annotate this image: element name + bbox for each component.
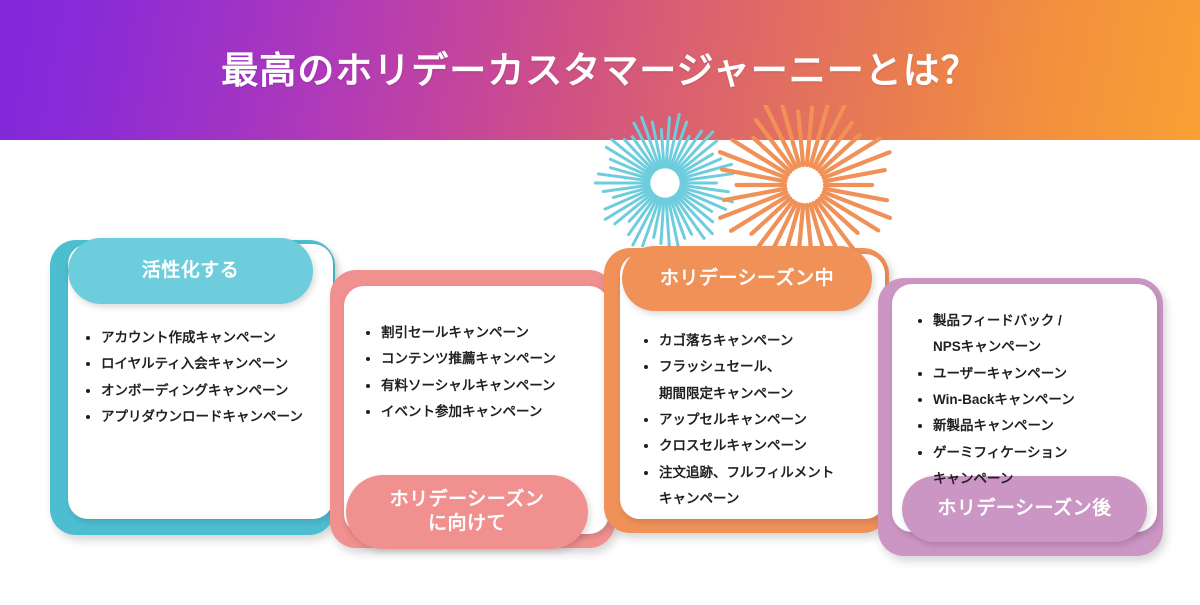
list-item-label: 製品フィードバック / <box>933 313 1062 328</box>
bullet-dot <box>644 339 648 343</box>
list-item-label: アップセルキャンペーン <box>659 412 807 427</box>
bullet-dot <box>918 424 922 428</box>
bullet-dot <box>366 357 370 361</box>
list-item-label: アカウント作成キャンペーン <box>101 330 276 345</box>
list-item-label: コンテンツ推薦キャンペーン <box>381 351 556 366</box>
stage-label-line-2: に向けて <box>428 513 506 534</box>
list-item-label: 割引セールキャンペーン <box>381 325 529 340</box>
list-item-label: カゴ落ちキャンペーン <box>659 333 793 348</box>
list-item: ロイヤルティ入会キャンペーン <box>84 351 334 377</box>
list-item: コンテンツ推薦キャンペーン <box>364 346 619 372</box>
bullet-dot <box>86 336 90 340</box>
bullet-dot <box>86 389 90 393</box>
stage-label-activate: 活性化する <box>68 238 313 304</box>
stage-column-during-holiday[interactable]: ホリデーシーズン中 カゴ落ちキャンペーン フラッシュセール、 期間限定キャンペー… <box>604 248 889 533</box>
list-item-label: アプリダウンロードキャンペーン <box>101 409 303 424</box>
list-item: アプリダウンロードキャンペーン <box>84 404 334 430</box>
bullet-dot <box>918 451 922 455</box>
list-item-continuation: キャンペーン <box>916 466 1166 492</box>
list-item-label: ユーザーキャンペーン <box>933 366 1067 381</box>
list-item-label: クロスセルキャンペーン <box>659 438 807 453</box>
list-item: ゲーミフィケーション <box>916 440 1166 466</box>
bullet-dot <box>644 444 648 448</box>
bullet-dot <box>644 418 648 422</box>
list-item-continuation: NPSキャンペーン <box>916 334 1166 360</box>
firework-burst-left <box>595 115 732 252</box>
campaign-list-post-holiday: 製品フィードバック / NPSキャンペーン ユーザーキャンペーン Win-Bac… <box>916 308 1166 492</box>
stage-column-pre-holiday[interactable]: ホリデーシーズンに向けて 割引セールキャンペーン コンテンツ推薦キャンペーン 有… <box>330 270 615 548</box>
list-item-label: フラッシュセール、 <box>659 359 781 374</box>
list-item: ユーザーキャンペーン <box>916 361 1166 387</box>
bullet-dot <box>86 362 90 366</box>
campaign-list-activate: アカウント作成キャンペーン ロイヤルティ入会キャンペーン オンボーディングキャン… <box>84 325 334 430</box>
bullet-dot <box>86 415 90 419</box>
list-item: アカウント作成キャンペーン <box>84 325 334 351</box>
bullet-dot <box>918 319 922 323</box>
list-item-label: ロイヤルティ入会キャンペーン <box>101 356 288 371</box>
bullet-dot <box>918 372 922 376</box>
stage-column-activate[interactable]: 活性化する アカウント作成キャンペーン ロイヤルティ入会キャンペーン オンボーデ… <box>50 240 335 535</box>
list-item: オンボーディングキャンペーン <box>84 378 334 404</box>
bullet-dot <box>366 384 370 388</box>
campaign-list-pre-holiday: 割引セールキャンペーン コンテンツ推薦キャンペーン 有料ソーシャルキャンペーン … <box>364 320 619 425</box>
list-item-label: 有料ソーシャルキャンペーン <box>381 378 556 393</box>
page-title: 最高のホリデーカスタマージャーニーとは？ <box>0 40 1200 94</box>
list-item: フラッシュセール、 <box>642 354 892 380</box>
list-item: 注文追跡、フルフィルメント <box>642 460 892 486</box>
list-item: カゴ落ちキャンペーン <box>642 328 892 354</box>
bullet-dot <box>918 398 922 402</box>
stage-column-post-holiday[interactable]: ホリデーシーズン後 製品フィードバック / NPSキャンペーン ユーザーキャンペ… <box>878 278 1163 556</box>
list-item-label: Win-Backキャンペーン <box>933 392 1075 407</box>
list-item: イベント参加キャンペーン <box>364 399 619 425</box>
list-item-label: オンボーディングキャンペーン <box>101 383 288 398</box>
list-item-label: イベント参加キャンペーン <box>381 404 542 419</box>
list-item-label: 注文追跡、フルフィルメント <box>659 465 834 480</box>
list-item: アップセルキャンペーン <box>642 407 892 433</box>
list-item-label: キャンペーン <box>659 491 739 506</box>
bullet-dot <box>644 365 648 369</box>
list-item-label: ゲーミフィケーション <box>933 445 1067 460</box>
campaign-list-during-holiday: カゴ落ちキャンペーン フラッシュセール、 期間限定キャンペーン アップセルキャン… <box>642 328 892 512</box>
bullet-dot <box>366 331 370 335</box>
list-item-label: 新製品キャンペーン <box>933 418 1054 433</box>
list-item-label: 期間限定キャンペーン <box>659 386 793 401</box>
stage-label-during-holiday: ホリデーシーズン中 <box>622 246 872 311</box>
list-item: Win-Backキャンペーン <box>916 387 1166 413</box>
list-item: 有料ソーシャルキャンペーン <box>364 373 619 399</box>
list-item-label: NPSキャンペーン <box>933 339 1041 354</box>
bullet-dot <box>644 471 648 475</box>
list-item: クロスセルキャンペーン <box>642 433 892 459</box>
stage-label-pre-holiday: ホリデーシーズンに向けて <box>346 475 588 549</box>
list-item-label: キャンペーン <box>933 471 1013 486</box>
list-item-continuation: 期間限定キャンペーン <box>642 381 892 407</box>
stage-label-line-1: ホリデーシーズン <box>390 489 545 510</box>
list-item: 割引セールキャンペーン <box>364 320 619 346</box>
list-item: 新製品キャンペーン <box>916 413 1166 439</box>
bullet-dot <box>366 410 370 414</box>
list-item: 製品フィードバック / <box>916 308 1166 334</box>
list-item-continuation: キャンペーン <box>642 486 892 512</box>
